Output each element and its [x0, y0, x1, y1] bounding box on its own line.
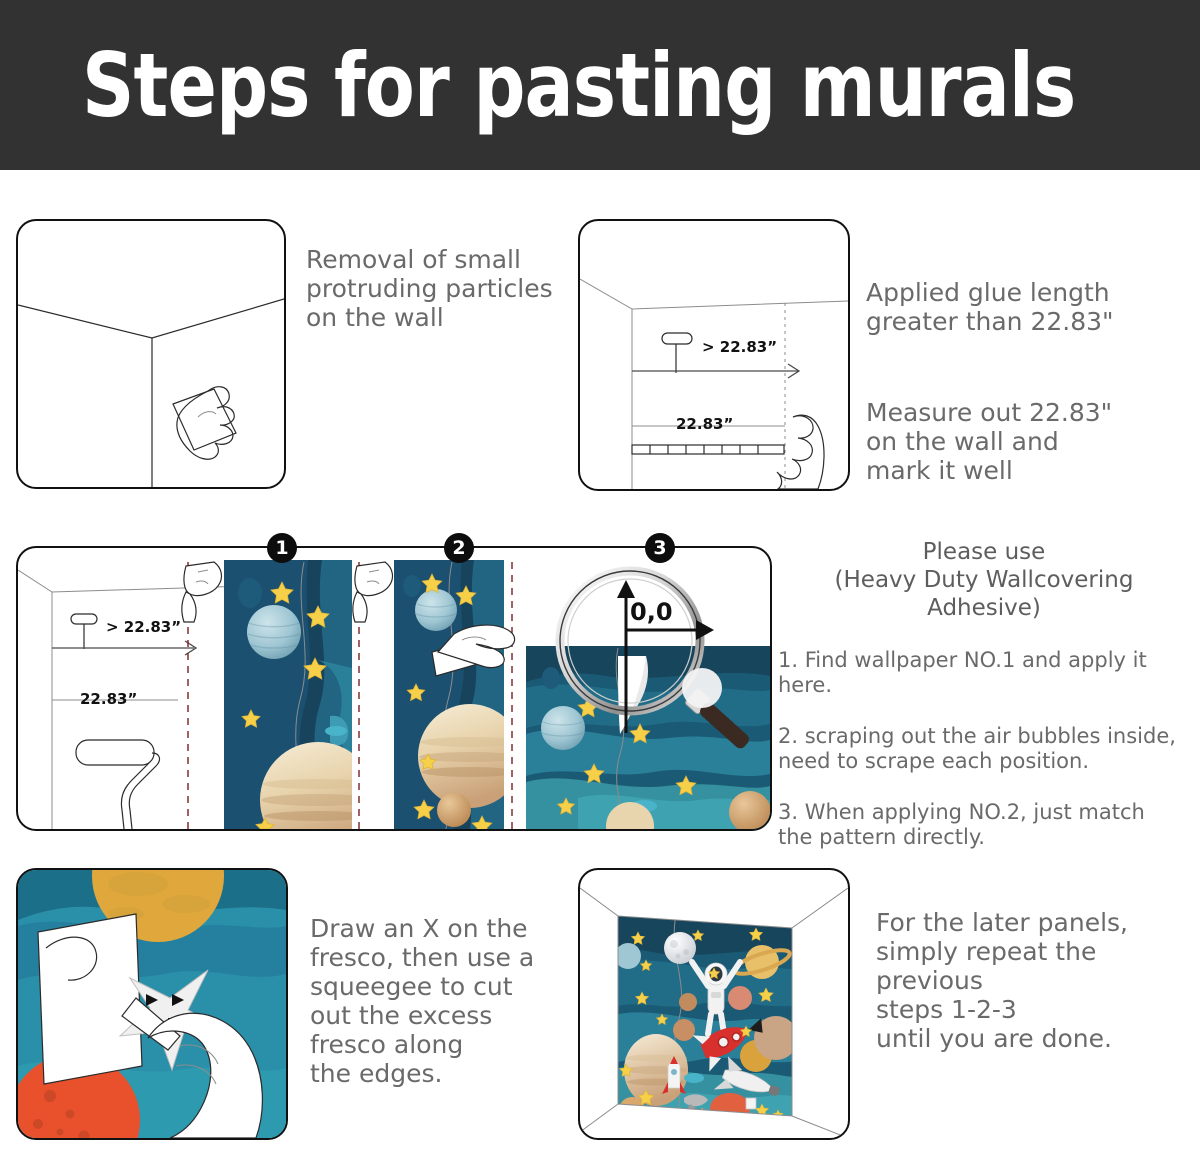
hand-left-strip1 — [182, 562, 222, 622]
panel-wall-scraping — [16, 219, 286, 489]
instruction-item-2: 2. scraping out the air bubbles inside, … — [778, 724, 1190, 774]
instruction-item-3: 3. When applying NO.2, just match the pa… — [778, 800, 1190, 850]
step-number-3: 3 — [645, 533, 675, 563]
instruction-item-1: 1. Find wallpaper NO.1 and apply it here… — [778, 648, 1190, 698]
mural-wall — [610, 910, 800, 1123]
caption-squeegee-cut: Draw an X on the fresco, then use a sque… — [310, 914, 560, 1088]
caption-measure-wall: Measure out 22.83" on the wall and mark … — [866, 398, 1186, 485]
origin-label: 0,0 — [630, 598, 673, 626]
finished-mural-illustration — [580, 870, 848, 1138]
page-title: Steps for pasting murals — [82, 34, 1075, 138]
mural-strip-1 — [224, 560, 376, 829]
panel-wall-measuring: > 22.83” 22.83” — [578, 219, 850, 491]
adhesive-heading-line2: (Heavy Duty Wallcovering Adhesive) — [778, 566, 1190, 622]
panel-squeegee-cut — [16, 868, 288, 1140]
caption-wall-scraping: Removal of small protruding particles on… — [306, 245, 576, 332]
step-number-2: 2 — [444, 533, 474, 563]
application-strip-illustration: > 22.83” 22.83” — [18, 548, 770, 829]
mural-strip-2 — [394, 560, 522, 829]
step-number-1: 1 — [267, 533, 297, 563]
caption-finished-mural: For the later panels, simply repeat the … — [876, 908, 1196, 1053]
wall-corner-scraping-illustration — [18, 221, 284, 487]
caption-glue-length: Applied glue length greater than 22.83" — [866, 278, 1176, 336]
panel-application-strip: > 22.83” 22.83” — [16, 546, 772, 831]
adhesive-heading-line1: Please use — [778, 538, 1190, 566]
instructions-column: Please use (Heavy Duty Wallcovering Adhe… — [778, 538, 1190, 850]
header-banner: Steps for pasting murals — [0, 0, 1200, 170]
panel-finished-mural — [578, 868, 850, 1140]
svg-text:> 22.83”: > 22.83” — [106, 618, 181, 636]
dim-label-roller: > 22.83” — [702, 338, 777, 356]
wall-measuring-illustration: > 22.83” 22.83” — [580, 221, 848, 489]
squeegee-cut-illustration — [18, 870, 286, 1138]
dim-label-wall: 22.83” — [676, 415, 733, 433]
svg-text:22.83”: 22.83” — [80, 690, 137, 708]
hand-right-strip1 — [353, 562, 393, 622]
